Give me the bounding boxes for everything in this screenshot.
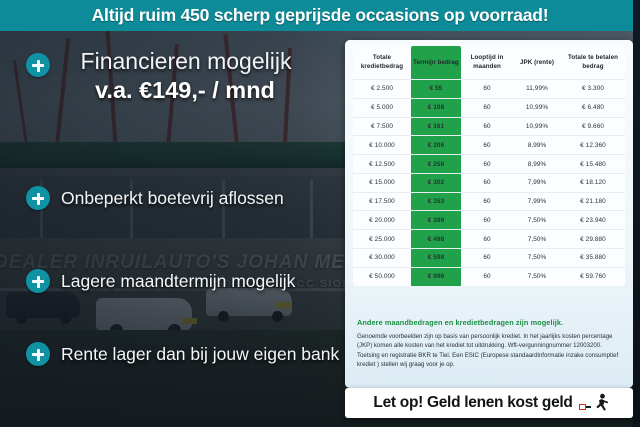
table-cell-termijn: € 302 — [411, 173, 461, 192]
promo-bullet-onbeperkt-aflossen: Onbeperkt boetevrij aflossen — [26, 186, 336, 210]
table-cell-krediet: € 17.500 — [353, 192, 411, 211]
table-cell-krediet: € 25.000 — [353, 230, 411, 249]
table-cell-looptijd: 60 — [461, 230, 513, 249]
table-row: € 50.000€ 996607,50%€ 59.760 — [353, 267, 625, 285]
table-cell-totaal: € 21.180 — [561, 192, 625, 211]
table-cell-totaal: € 3.300 — [561, 80, 625, 99]
table-cell-jpk: 11,99% — [513, 80, 561, 99]
table-cell-termijn: € 258 — [411, 155, 461, 174]
promo-bullet-rente-lager: Rente lager dan bij jouw eigen bank — [26, 342, 336, 366]
table-cell-totaal: € 9.660 — [561, 117, 625, 136]
panel-note-title: Andere maandbedragen en kredietbedragen … — [357, 318, 621, 327]
table-cell-jpk: 10,99% — [513, 117, 561, 136]
table-row: € 5.000€ 1086010,99%€ 6.480 — [353, 98, 625, 117]
table-cell-termijn: € 206 — [411, 136, 461, 155]
table-cell-looptijd: 60 — [461, 173, 513, 192]
promo-bullet-lagere-maandtermijn: Lagere maandtermijn mogelijk — [26, 269, 336, 293]
table-cell-jpk: 7,50% — [513, 211, 561, 230]
table-cell-termijn: € 55 — [411, 80, 461, 99]
table-cell-jpk: 7,50% — [513, 230, 561, 249]
table-cell-jpk: 7,99% — [513, 192, 561, 211]
table-row: € 12.500€ 258608,99%€ 15.480 — [353, 155, 625, 174]
promo-bullet-label: Lagere maandtermijn mogelijk — [61, 271, 295, 292]
table-cell-krediet: € 5.000 — [353, 98, 411, 117]
table-row: € 25.000€ 498607,50%€ 29.880 — [353, 230, 625, 249]
table-cell-looptijd: 60 — [461, 80, 513, 99]
table-cell-termijn: € 598 — [411, 249, 461, 268]
table-cell-looptijd: 60 — [461, 155, 513, 174]
table-cell-totaal: € 6.480 — [561, 98, 625, 117]
plus-icon — [26, 342, 50, 366]
table-header-termijn: Termijn bedrag — [411, 46, 461, 80]
top-headline-text: Altijd ruim 450 scherp geprijsde occasio… — [92, 5, 549, 26]
table-cell-termijn: € 498 — [411, 230, 461, 249]
table-cell-totaal: € 15.480 — [561, 155, 625, 174]
table-header-totaal: Totale te betalen bedrag — [561, 46, 625, 80]
promo-left-column: Financieren mogelijk v.a. €149,- / mnd O… — [0, 31, 345, 427]
table-cell-looptijd: 60 — [461, 192, 513, 211]
table-cell-krediet: € 15.000 — [353, 173, 411, 192]
table-cell-totaal: € 23.940 — [561, 211, 625, 230]
credit-rates-table: Totale kredietbedrag Termijn bedrag Loop… — [353, 46, 625, 286]
table-cell-termijn: € 353 — [411, 192, 461, 211]
table-cell-totaal: € 29.880 — [561, 230, 625, 249]
top-headline-bar: Altijd ruim 450 scherp geprijsde occasio… — [0, 0, 640, 31]
table-cell-termijn: € 161 — [411, 117, 461, 136]
table-cell-termijn: € 108 — [411, 98, 461, 117]
table-row: € 2.500€ 556011,99%€ 3.300 — [353, 80, 625, 99]
table-cell-krediet: € 7.500 — [353, 117, 411, 136]
running-man-with-wallet-icon — [579, 393, 605, 413]
table-row: € 30.000€ 598607,50%€ 35.880 — [353, 249, 625, 268]
credit-warning-text: Let op! Geld lenen kost geld — [373, 394, 572, 412]
table-cell-termijn: € 399 — [411, 211, 461, 230]
promo-headline-line1: Financieren mogelijk — [8, 48, 340, 75]
rates-panel: Totale kredietbedrag Termijn bedrag Loop… — [345, 40, 633, 388]
table-header-row: Totale kredietbedrag Termijn bedrag Loop… — [353, 46, 625, 80]
credit-rates-table-body: € 2.500€ 556011,99%€ 3.300€ 5.000€ 10860… — [353, 80, 625, 286]
table-cell-looptijd: 60 — [461, 267, 513, 285]
plus-icon — [26, 186, 50, 210]
table-cell-jpk: 7,50% — [513, 249, 561, 268]
promo-bullet-label: Rente lager dan bij jouw eigen bank — [61, 344, 339, 365]
table-header-looptijd: Looptijd in maanden — [461, 46, 513, 80]
table-cell-jpk: 7,99% — [513, 173, 561, 192]
panel-note-body: Genoemde voorbeelden zijn op basis van p… — [357, 332, 623, 369]
table-cell-totaal: € 35.880 — [561, 249, 625, 268]
table-cell-looptijd: 60 — [461, 211, 513, 230]
table-cell-looptijd: 60 — [461, 98, 513, 117]
table-cell-looptijd: 60 — [461, 136, 513, 155]
table-header-krediet: Totale kredietbedrag — [353, 46, 411, 80]
table-row: € 7.500€ 1616010,99%€ 9.660 — [353, 117, 625, 136]
table-cell-totaal: € 12.360 — [561, 136, 625, 155]
table-cell-totaal: € 59.760 — [561, 267, 625, 285]
table-cell-totaal: € 18.120 — [561, 173, 625, 192]
table-row: € 15.000€ 302607,99%€ 18.120 — [353, 173, 625, 192]
table-cell-krediet: € 2.500 — [353, 80, 411, 99]
table-cell-jpk: 8,99% — [513, 155, 561, 174]
promo-bullet-label: Onbeperkt boetevrij aflossen — [61, 188, 284, 209]
table-cell-jpk: 10,99% — [513, 98, 561, 117]
table-cell-jpk: 8,99% — [513, 136, 561, 155]
table-cell-krediet: € 30.000 — [353, 249, 411, 268]
table-cell-termijn: € 996 — [411, 267, 461, 285]
table-row: € 17.500€ 353607,99%€ 21.180 — [353, 192, 625, 211]
credit-warning-strip: Let op! Geld lenen kost geld — [345, 388, 633, 418]
finance-promo-banner: DEALER INRUILAUTO'S JOHAN MEURS ALTIJD 4… — [0, 0, 640, 427]
table-cell-krediet: € 10.000 — [353, 136, 411, 155]
table-cell-looptijd: 60 — [461, 117, 513, 136]
table-row: € 20.000€ 399607,50%€ 23.940 — [353, 211, 625, 230]
promo-headline-line2: v.a. €149,- / mnd — [8, 75, 340, 105]
wallet-shape — [579, 404, 586, 410]
table-cell-looptijd: 60 — [461, 249, 513, 268]
table-cell-jpk: 7,50% — [513, 267, 561, 285]
table-cell-krediet: € 12.500 — [353, 155, 411, 174]
table-header-jpk: JPK (rente) — [513, 46, 561, 80]
plus-icon — [26, 269, 50, 293]
promo-headline: Financieren mogelijk v.a. €149,- / mnd — [8, 48, 340, 105]
table-cell-krediet: € 50.000 — [353, 267, 411, 285]
table-cell-krediet: € 20.000 — [353, 211, 411, 230]
right-edge-strip — [633, 0, 640, 427]
table-row: € 10.000€ 206608,99%€ 12.360 — [353, 136, 625, 155]
